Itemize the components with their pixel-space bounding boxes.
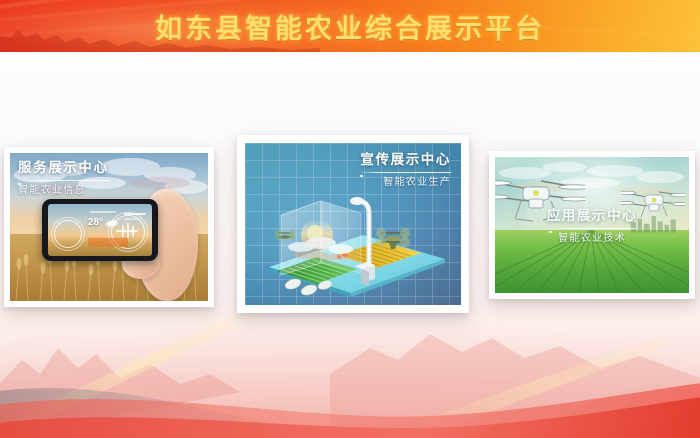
card-service-center-title: 服务展示中心 <box>18 161 109 175</box>
card-application-center-rule <box>549 228 635 229</box>
info-bar <box>124 218 140 220</box>
card-promotion-center[interactable]: 宣传展示中心 智能农业生产 <box>237 135 469 313</box>
phone-screen: 28° <box>48 204 152 256</box>
card-application-center-subtitle: 智能农业技术 <box>489 234 695 244</box>
page-title: 如东县智能农业综合展示平台 <box>0 0 700 52</box>
card-application-center-text: 应用展示中心 智能农业技术 <box>489 209 695 244</box>
cloud-icon <box>106 218 118 227</box>
card-service-center-subtitle: 智能农业信息 <box>18 186 109 196</box>
card-service-center-rule <box>18 180 109 181</box>
hud-bar <box>127 223 129 238</box>
temperature-readout: 28° <box>88 217 103 228</box>
card-promotion-center-text: 宣传展示中心 智能农业生产 <box>360 153 451 188</box>
card-application-center[interactable]: 应用展示中心 智能农业技术 <box>489 151 695 299</box>
hud-bar <box>132 226 134 237</box>
rule-dot <box>360 175 363 178</box>
card-application-center-title: 应用展示中心 <box>489 209 695 223</box>
rule-dot <box>549 231 552 234</box>
header-banner: 如东县智能农业综合展示平台 <box>0 0 700 52</box>
rule-dot <box>18 183 21 186</box>
smartphone: 28° <box>42 199 158 261</box>
card-service-center-text: 服务展示中心 智能农业信息 <box>18 161 109 196</box>
card-promotion-center-rule <box>360 172 451 173</box>
hud-bar <box>122 225 124 237</box>
info-panel <box>88 238 128 247</box>
card-service-center[interactable]: 28° 服务展示中心 智能农业信息 <box>4 147 214 307</box>
display-platform-screen: 如东县智能农业综合展示平台 <box>0 0 700 438</box>
card-promotion-center-subtitle: 智能农业生产 <box>360 178 451 188</box>
hud-ring-left-outer <box>51 217 85 251</box>
info-bar <box>124 213 146 215</box>
card-promotion-center-title: 宣传展示中心 <box>360 153 451 167</box>
info-divider <box>90 211 116 213</box>
